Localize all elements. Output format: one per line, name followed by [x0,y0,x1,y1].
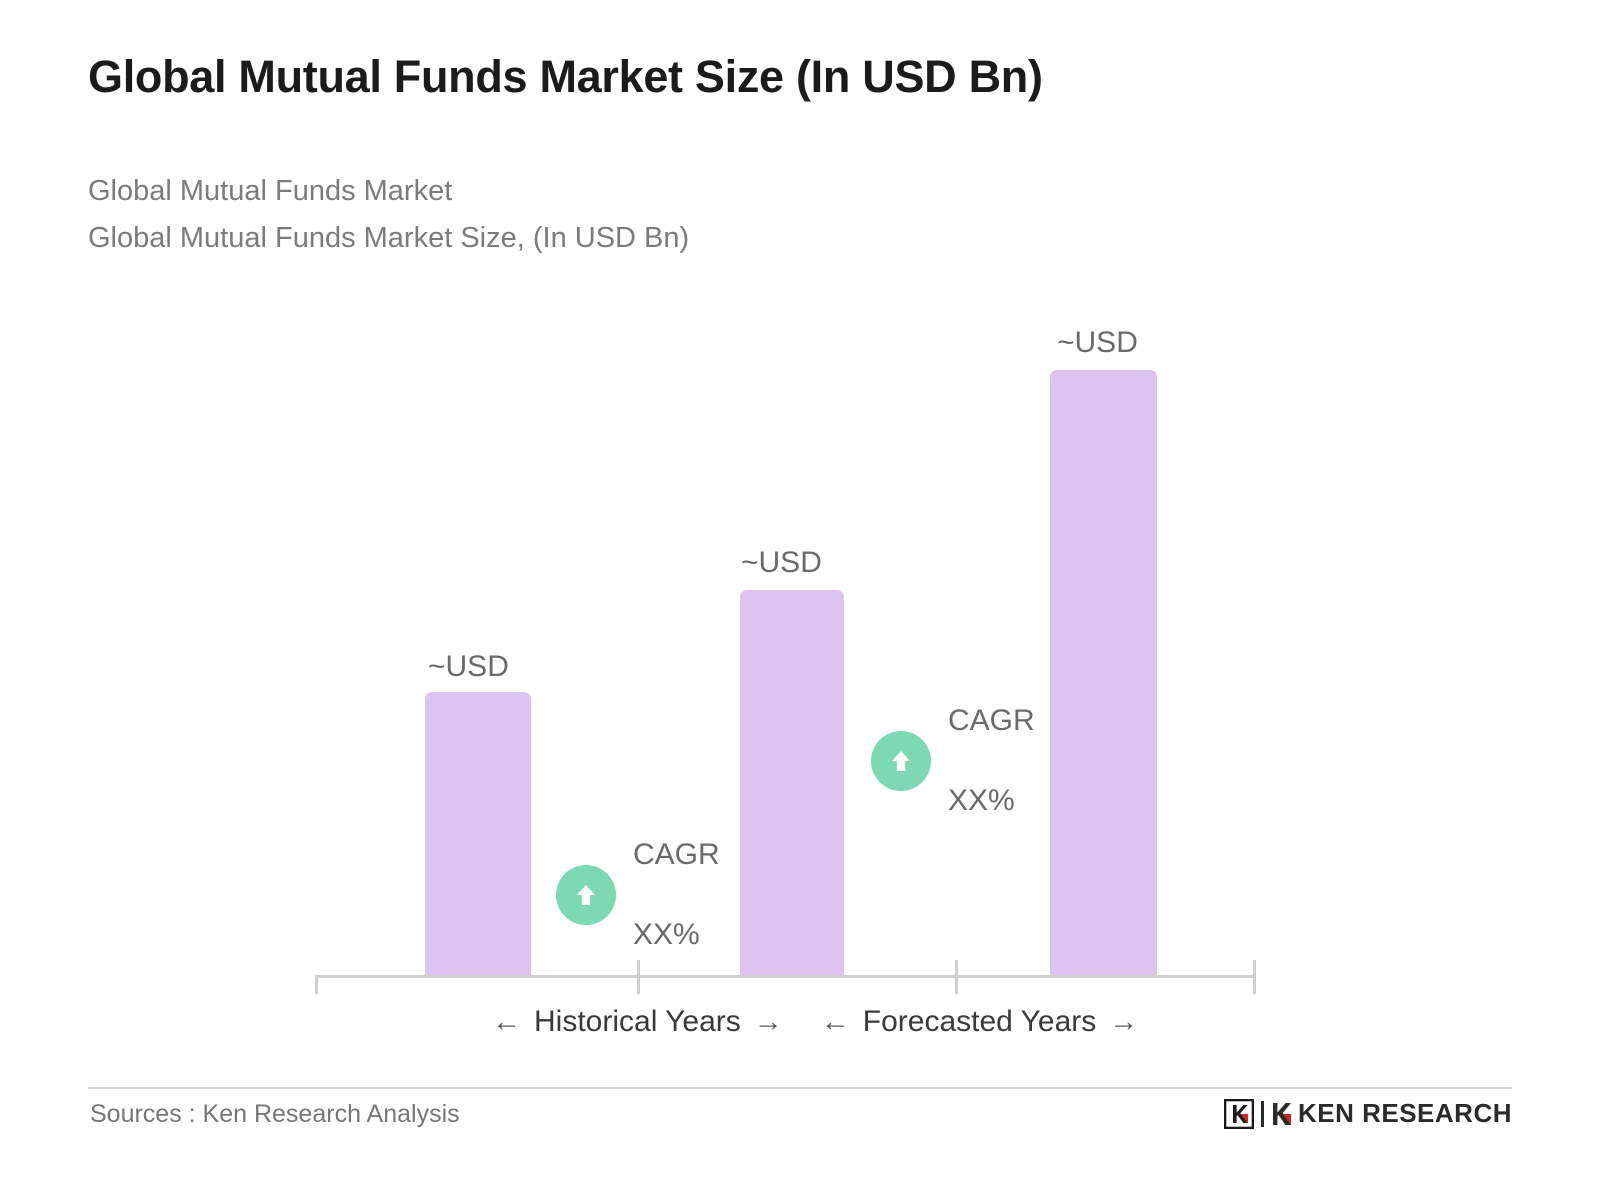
axis-tick-start [315,975,318,994]
arrow-up-icon [871,731,931,791]
cagr-badge-2-text: CAGR XX% [948,661,1035,861]
bar-label-2-line1: ~USD [741,543,822,583]
logo-text: KEN RESEARCH [1298,1098,1512,1129]
bar-label-1-line1: ~USD [428,647,513,687]
cagr-badge-2-line2: XX% [948,781,1035,821]
bar-label-3-line1: ~USD [1057,323,1142,363]
ken-research-k-mark [1224,1099,1254,1129]
axis-tick-historical-end [637,960,640,994]
historical-years-label: ← Historical Years → [492,1005,783,1039]
bar-chart: ~USD XX Bn CAGR XX% ~USD 84 Bn [0,0,1600,1200]
bar-base-year[interactable] [740,590,844,975]
left-arrow-icon: ← [492,1008,521,1037]
cagr-badge-1-text: CAGR XX% [633,795,720,995]
right-arrow-icon: → [1109,1008,1138,1037]
slide-canvas: Global Mutual Funds Market Size (In USD … [0,0,1600,1200]
ken-research-logo: KEN RESEARCH [1224,1098,1512,1129]
axis-tick-end [1253,960,1256,994]
forecasted-years-label: ← Forecasted Years → [821,1005,1138,1039]
logo-wordmark: KEN RESEARCH [1271,1098,1512,1129]
axis-tick-forecast-start [955,960,958,994]
cagr-badge-2-line1: CAGR [948,701,1035,741]
logo-red-k-icon [1271,1101,1293,1127]
left-arrow-icon: ← [821,1008,850,1037]
cagr-badge-2[interactable]: CAGR XX% [871,661,1035,861]
bar-historical[interactable] [425,692,531,975]
footer-divider [88,1087,1512,1089]
cagr-badge-1-line2: XX% [633,915,720,955]
sources-text: Sources : Ken Research Analysis [90,1100,460,1129]
arrow-up-icon [556,865,616,925]
forecasted-years-text: Forecasted Years [863,1005,1096,1039]
logo-divider [1261,1101,1264,1127]
historical-years-text: Historical Years [534,1005,741,1039]
right-arrow-icon: → [754,1008,783,1037]
axis-period-labels: ← Historical Years → ← Forecasted Years … [492,1005,1138,1039]
bar-forecast[interactable] [1050,370,1157,975]
x-axis-line [315,975,1255,978]
cagr-badge-1-line1: CAGR [633,835,720,875]
